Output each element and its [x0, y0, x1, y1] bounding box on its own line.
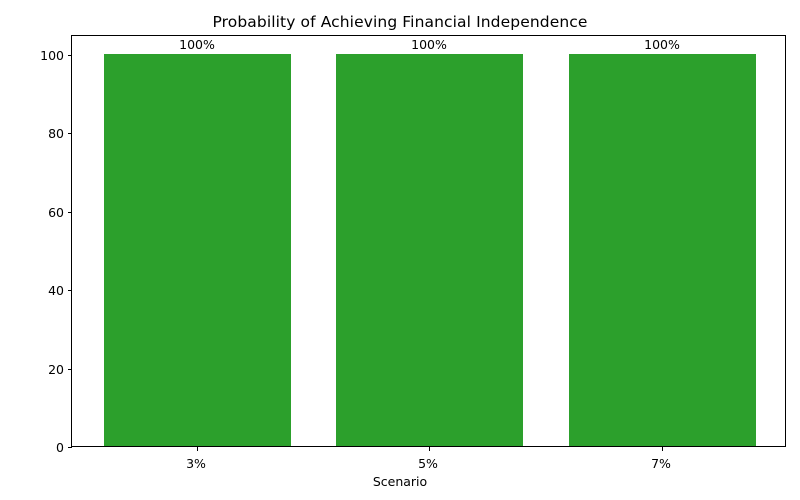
y-tick-label-100: 100	[0, 48, 64, 63]
bar-value-label-1: 100%	[137, 37, 257, 52]
y-tick-label-0: 0	[0, 440, 64, 455]
bar-scenario-5pct[interactable]	[336, 54, 523, 447]
chart-figure: Probability of Achieving Financial Indep…	[0, 0, 800, 500]
y-tick-mark-0	[68, 447, 73, 448]
bar-scenario-3pct[interactable]	[104, 54, 291, 447]
y-tick-label-40: 40	[0, 283, 64, 298]
chart-title: Probability of Achieving Financial Indep…	[0, 13, 800, 31]
x-tick-label-3: 7%	[601, 456, 721, 471]
x-tick-mark-2	[429, 446, 430, 451]
x-tick-mark-1	[197, 446, 198, 451]
bar-value-label-2: 100%	[369, 37, 489, 52]
plot-area: 100% 100% 100%	[71, 35, 786, 447]
x-tick-label-1: 3%	[136, 456, 256, 471]
bars-layer: 100% 100% 100%	[72, 36, 785, 446]
y-tick-label-80: 80	[0, 126, 64, 141]
bar-scenario-7pct[interactable]	[569, 54, 756, 447]
x-tick-label-2: 5%	[368, 456, 488, 471]
x-tick-mark-3	[662, 446, 663, 451]
x-axis-label: Scenario	[0, 474, 800, 489]
y-tick-label-20: 20	[0, 362, 64, 377]
y-tick-label-60: 60	[0, 205, 64, 220]
bar-value-label-3: 100%	[602, 37, 722, 52]
